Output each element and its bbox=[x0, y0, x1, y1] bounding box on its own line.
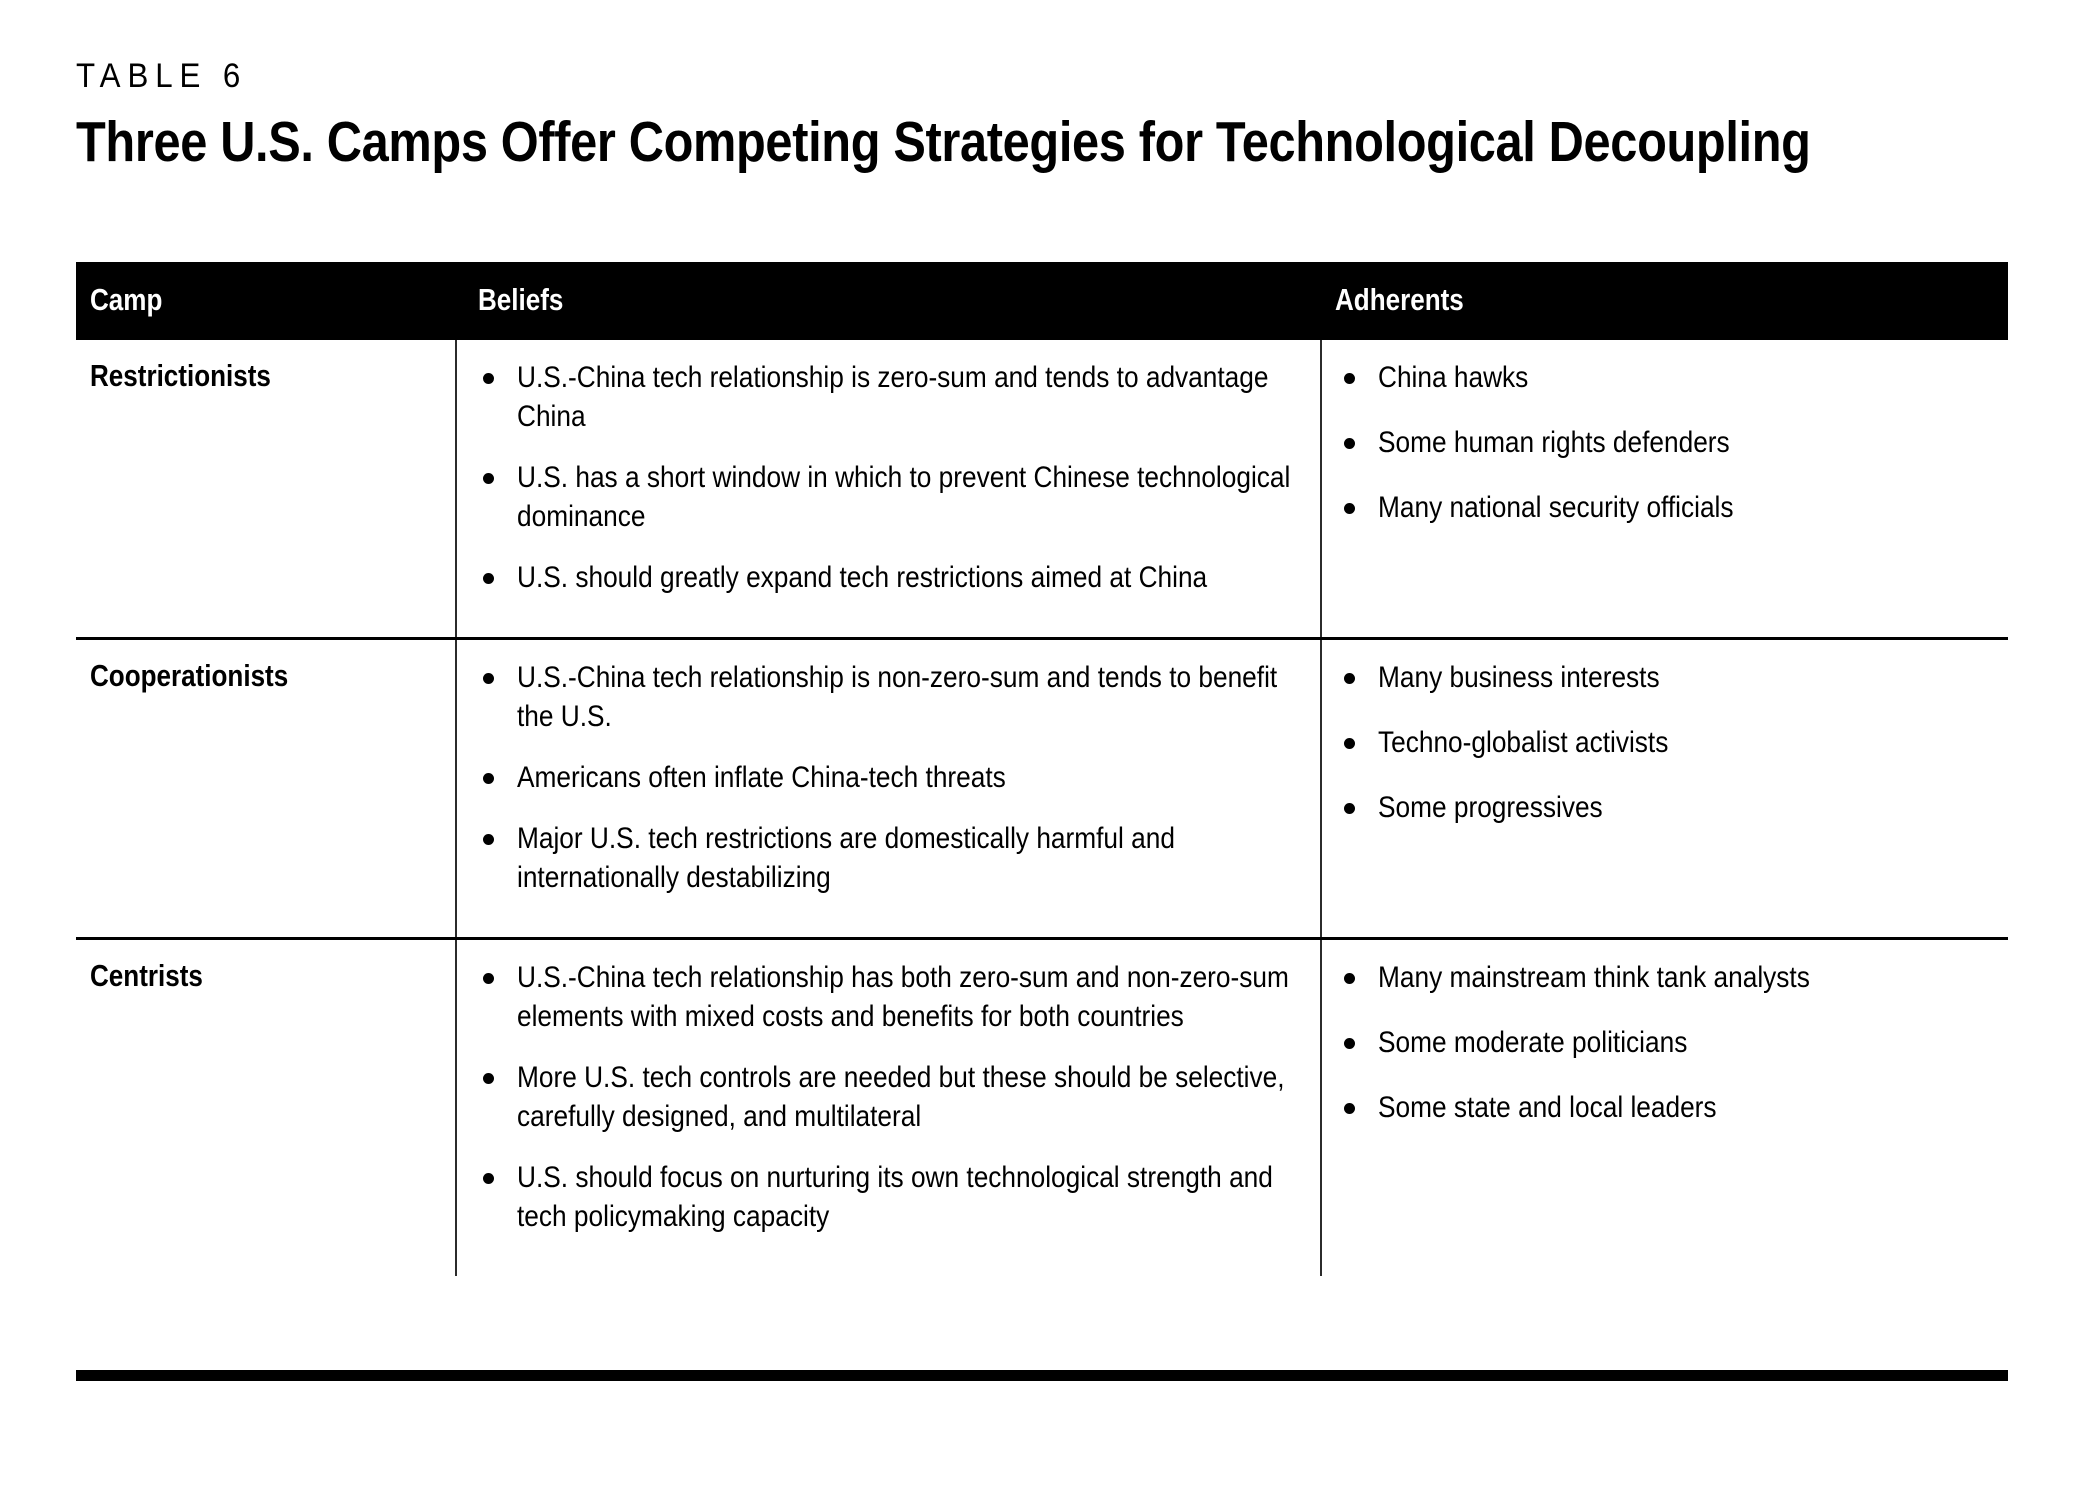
table-container: Camp Beliefs Adherents Restrictionists bbox=[76, 262, 2008, 1276]
list-item-text: Some progressives bbox=[1378, 788, 1992, 827]
bullet-dot-icon bbox=[1344, 673, 1355, 684]
page-title: Three U.S. Camps Offer Competing Strateg… bbox=[76, 113, 1735, 173]
camp-name: Cooperationists bbox=[76, 640, 455, 734]
list-item: Major U.S. tech restrictions are domesti… bbox=[479, 819, 1294, 897]
bullet-dot-icon bbox=[1344, 373, 1355, 384]
bullet-dot-icon bbox=[483, 673, 494, 684]
bullet-dot-icon bbox=[483, 973, 494, 984]
list-item-text: Techno-globalist activists bbox=[1378, 723, 1992, 762]
list-item: U.S. should greatly expand tech restrict… bbox=[479, 558, 1294, 597]
list-item-text: U.S.-China tech relationship is zero-sum… bbox=[517, 358, 1292, 436]
cell-beliefs: U.S.-China tech relationship is zero-sum… bbox=[456, 340, 1321, 639]
bullet-dot-icon bbox=[1344, 973, 1355, 984]
table-number-label: TABLE 6 bbox=[76, 58, 1861, 95]
column-header-adherents: Adherents bbox=[1321, 262, 2008, 340]
table-figure-page: TABLE 6 Three U.S. Camps Offer Competing… bbox=[0, 0, 2084, 1488]
list-item: Some human rights defenders bbox=[1340, 423, 1994, 462]
list-item: Techno-globalist activists bbox=[1340, 723, 1994, 762]
table-header-row: Camp Beliefs Adherents bbox=[76, 262, 2008, 340]
column-header-camp: Camp bbox=[76, 262, 456, 340]
list-item-text: Many mainstream think tank analysts bbox=[1378, 958, 1992, 997]
list-item: U.S.-China tech relationship is zero-sum… bbox=[479, 358, 1294, 436]
bullet-dot-icon bbox=[1344, 738, 1355, 749]
column-header-adherents-label: Adherents bbox=[1335, 282, 1464, 318]
table-row: Centrists U.S.-China tech relationship h… bbox=[76, 939, 2008, 1277]
table-row: Cooperationists U.S.-China tech relation… bbox=[76, 639, 2008, 939]
table-row: Restrictionists U.S.-China tech relation… bbox=[76, 340, 2008, 639]
list-item: Some state and local leaders bbox=[1340, 1088, 1994, 1127]
adherents-list: China hawks Some human rights defenders … bbox=[1322, 340, 2008, 593]
beliefs-list: U.S.-China tech relationship is non-zero… bbox=[457, 640, 1320, 937]
list-item: Americans often inflate China-tech threa… bbox=[479, 758, 1294, 797]
table-body: Restrictionists U.S.-China tech relation… bbox=[76, 340, 2008, 1276]
bullet-dot-icon bbox=[1344, 503, 1355, 514]
list-item: Many mainstream think tank analysts bbox=[1340, 958, 1994, 997]
bullet-dot-icon bbox=[1344, 1103, 1355, 1114]
list-item: Some moderate politicians bbox=[1340, 1023, 1994, 1062]
table-bottom-rule bbox=[76, 1370, 2008, 1381]
bullet-dot-icon bbox=[483, 473, 494, 484]
cell-adherents: China hawks Some human rights defenders … bbox=[1321, 340, 2008, 639]
beliefs-list: U.S.-China tech relationship is zero-sum… bbox=[457, 340, 1320, 637]
list-item: Some progressives bbox=[1340, 788, 1994, 827]
bullet-dot-icon bbox=[483, 373, 494, 384]
list-item-text: Some human rights defenders bbox=[1378, 423, 1992, 462]
list-item-text: U.S. should focus on nurturing its own t… bbox=[517, 1158, 1292, 1236]
list-item: China hawks bbox=[1340, 358, 1994, 397]
list-item-text: Some moderate politicians bbox=[1378, 1023, 1992, 1062]
cell-adherents: Many mainstream think tank analysts Some… bbox=[1321, 939, 2008, 1277]
list-item: U.S.-China tech relationship is non-zero… bbox=[479, 658, 1294, 736]
bullet-dot-icon bbox=[483, 1173, 494, 1184]
bullet-dot-icon bbox=[483, 1073, 494, 1084]
bullet-dot-icon bbox=[1344, 1038, 1355, 1049]
cell-camp: Centrists bbox=[76, 939, 456, 1277]
list-item: More U.S. tech controls are needed but t… bbox=[479, 1058, 1294, 1136]
camp-name-label: Restrictionists bbox=[90, 358, 271, 394]
bullet-dot-icon bbox=[1344, 803, 1355, 814]
camp-name-label: Cooperationists bbox=[90, 658, 288, 694]
list-item-text: U.S.-China tech relationship has both ze… bbox=[517, 958, 1292, 1036]
list-item-text: Many business interests bbox=[1378, 658, 1992, 697]
camps-comparison-table: Camp Beliefs Adherents Restrictionists bbox=[76, 262, 2008, 1276]
list-item-text: Major U.S. tech restrictions are domesti… bbox=[517, 819, 1292, 897]
list-item: Many national security officials bbox=[1340, 488, 1994, 527]
column-header-beliefs: Beliefs bbox=[456, 262, 1321, 340]
cell-adherents: Many business interests Techno-globalist… bbox=[1321, 639, 2008, 939]
beliefs-list: U.S.-China tech relationship has both ze… bbox=[457, 940, 1320, 1276]
list-item: U.S.-China tech relationship has both ze… bbox=[479, 958, 1294, 1036]
list-item-text: China hawks bbox=[1378, 358, 1992, 397]
list-item: Many business interests bbox=[1340, 658, 1994, 697]
adherents-list: Many mainstream think tank analysts Some… bbox=[1322, 940, 2008, 1193]
list-item: U.S. has a short window in which to prev… bbox=[479, 458, 1294, 536]
list-item-text: Americans often inflate China-tech threa… bbox=[517, 758, 1292, 797]
list-item-text: U.S. should greatly expand tech restrict… bbox=[517, 558, 1292, 597]
camp-name: Centrists bbox=[76, 940, 455, 1034]
list-item: U.S. should focus on nurturing its own t… bbox=[479, 1158, 1294, 1236]
bullet-dot-icon bbox=[483, 773, 494, 784]
cell-camp: Restrictionists bbox=[76, 340, 456, 639]
cell-camp: Cooperationists bbox=[76, 639, 456, 939]
cell-beliefs: U.S.-China tech relationship is non-zero… bbox=[456, 639, 1321, 939]
bullet-dot-icon bbox=[483, 834, 494, 845]
camp-name-label: Centrists bbox=[90, 958, 203, 994]
column-header-beliefs-label: Beliefs bbox=[478, 282, 563, 318]
table-header: Camp Beliefs Adherents bbox=[76, 262, 2008, 340]
list-item-text: Some state and local leaders bbox=[1378, 1088, 1992, 1127]
column-header-camp-label: Camp bbox=[90, 282, 162, 318]
list-item-text: More U.S. tech controls are needed but t… bbox=[517, 1058, 1292, 1136]
camp-name: Restrictionists bbox=[76, 340, 455, 434]
figure-title-block: TABLE 6 Three U.S. Camps Offer Competing… bbox=[76, 58, 2016, 173]
list-item-text: U.S.-China tech relationship is non-zero… bbox=[517, 658, 1292, 736]
bullet-dot-icon bbox=[483, 573, 494, 584]
adherents-list: Many business interests Techno-globalist… bbox=[1322, 640, 2008, 893]
cell-beliefs: U.S.-China tech relationship has both ze… bbox=[456, 939, 1321, 1277]
list-item-text: U.S. has a short window in which to prev… bbox=[517, 458, 1292, 536]
bullet-dot-icon bbox=[1344, 438, 1355, 449]
list-item-text: Many national security officials bbox=[1378, 488, 1992, 527]
